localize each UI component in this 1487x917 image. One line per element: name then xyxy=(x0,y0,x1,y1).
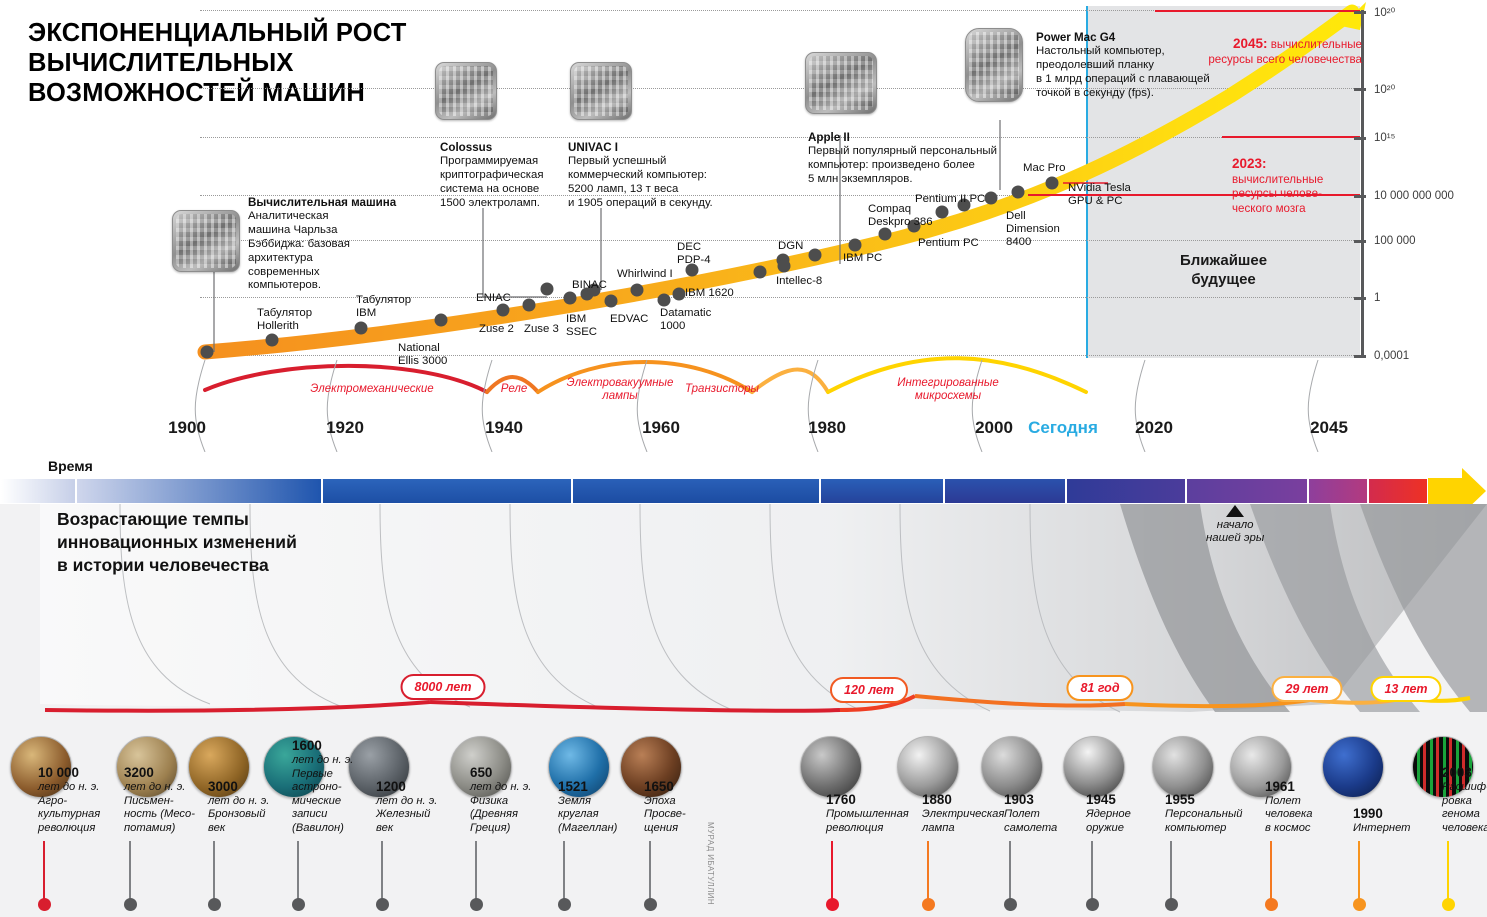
event-stem xyxy=(1270,841,1272,899)
axis-tick xyxy=(1354,355,1366,358)
event-dot xyxy=(208,898,221,911)
dot-label-binac: BINAC xyxy=(572,279,607,292)
event-stem xyxy=(213,841,215,899)
time-segment xyxy=(0,478,76,504)
event-dot xyxy=(1004,898,1017,911)
event-desc: Земля круглая (Магеллан) xyxy=(558,795,650,835)
axis-tick xyxy=(1354,88,1366,91)
year-tick-2000: 2000 xyxy=(975,418,1013,438)
event-desc: Расшиф- ровка генома человека xyxy=(1442,781,1487,835)
era-label-transistors: Транзисторы xyxy=(676,383,768,396)
event-desc: Интернет xyxy=(1353,822,1445,835)
dot-label-mac-pro: Mac Pro xyxy=(1023,162,1065,175)
event-stem xyxy=(1009,841,1011,899)
horizon-note-2023: 2023:вычислительные ресурсы челове- ческ… xyxy=(1232,142,1362,216)
event-desc: Промышленная революция xyxy=(826,808,928,835)
event-desc: Эпоха Просве- щения xyxy=(644,795,736,835)
year-tick-1980: 1980 xyxy=(808,418,846,438)
time-segment xyxy=(572,478,820,504)
callout-text: Настольный компьютер, преодолевший планк… xyxy=(1036,45,1246,101)
callout-apple-ii: Apple II Первый популярный персональный … xyxy=(808,131,1038,187)
timeline-event: 1880 Электрическая лампа xyxy=(922,647,1014,917)
callout-text: Аналитическая машина Чарльза Бэббиджа: б… xyxy=(248,210,423,293)
time-segment xyxy=(322,478,572,504)
y-axis-label: 10¹⁵ xyxy=(1374,132,1395,144)
event-desc: лет до н. э. Письмен- ность (Месо- потам… xyxy=(124,781,216,835)
event-dot xyxy=(558,898,571,911)
callout-title: Apple II xyxy=(808,131,1038,145)
event-year: 2003 xyxy=(1442,765,1487,780)
event-stem xyxy=(129,841,131,899)
thumb-colossus xyxy=(435,62,497,120)
event-year: 1990 xyxy=(1353,806,1445,821)
callout-text: Первый успешный коммерческий компьютер: … xyxy=(568,155,768,211)
dot-label-nvidia: NVidia Tesla GPU & PC xyxy=(1068,182,1131,208)
interval-badge-8000: 8000 лет xyxy=(401,674,486,700)
event-dot xyxy=(922,898,935,911)
event-stem xyxy=(831,841,833,899)
time-segment xyxy=(944,478,1066,504)
callout-colossus: Colossus Программируемая криптографическ… xyxy=(440,141,565,211)
dot-label-ibm-pc: IBM PC xyxy=(843,252,882,265)
time-gradient-bar xyxy=(0,478,1447,504)
era-label-vacuum-tubes: Электровакуумные лампы xyxy=(548,377,692,403)
dot-label-intellec8: Intellec-8 xyxy=(776,275,822,288)
timeline-event: 10 000 лет до н. э. Агро- культурная рев… xyxy=(38,647,130,917)
year-tick-1960: 1960 xyxy=(642,418,680,438)
axis-tick xyxy=(1354,297,1366,300)
event-dot xyxy=(1086,898,1099,911)
year-tick-1920: 1920 xyxy=(326,418,364,438)
time-segment xyxy=(1308,478,1368,504)
time-axis-caption: Время xyxy=(48,458,93,474)
dot-label-pentium: Pentium PC xyxy=(918,237,979,250)
event-stem xyxy=(297,841,299,899)
callout-title: Power Mac G4 xyxy=(1036,31,1246,45)
event-year: 650 xyxy=(470,765,562,780)
event-dot xyxy=(124,898,137,911)
dot-label-whirlwind: Whirlwind I xyxy=(617,268,673,281)
year-tick-1940: 1940 xyxy=(485,418,523,438)
thumb-analytical-engine xyxy=(172,210,240,272)
timeline-event: 3200 лет до н. э. Письмен- ность (Месо- … xyxy=(124,647,216,917)
axis-tick xyxy=(1354,240,1366,243)
event-dot xyxy=(1442,898,1455,911)
event-year: 1760 xyxy=(826,792,928,807)
year-tick-2020: 2020 xyxy=(1135,418,1173,438)
dot-label-datamatic: Datamatic 1000 xyxy=(660,307,711,333)
time-segment xyxy=(76,478,322,504)
timeline-event: 1650 Эпоха Просве- щения xyxy=(644,647,736,917)
event-year: 1600 xyxy=(292,738,384,753)
dot-label-eniac: ENIAC xyxy=(476,292,511,305)
event-dot xyxy=(644,898,657,911)
event-stem xyxy=(43,841,45,899)
event-year: 1955 xyxy=(1165,792,1269,807)
event-dot xyxy=(376,898,389,911)
event-stem xyxy=(1091,841,1093,899)
dot-label-zuse3: Zuse 3 xyxy=(524,323,559,336)
dot-label-ibm-ssec: IBM SSEC xyxy=(566,313,597,339)
dot-label-pentium2: Pentium II PC xyxy=(915,193,985,206)
event-stem xyxy=(381,841,383,899)
era-label-relays: Реле xyxy=(487,383,541,396)
era-label-electromechanical: Электромеханические xyxy=(277,383,467,396)
timeline-event: 1521 Земля круглая (Магеллан) xyxy=(558,647,650,917)
dot-label-compaq: Compaq Deskpro 386 xyxy=(868,203,933,229)
y-axis-label: 1 xyxy=(1374,292,1380,304)
callout-title: UNIVAC I xyxy=(568,141,768,155)
event-dot xyxy=(292,898,305,911)
timeline-event: 3000 лет до н. э. Бронзовый век xyxy=(208,647,300,917)
time-segment xyxy=(1186,478,1308,504)
event-desc: Полет самолета xyxy=(1004,808,1096,835)
event-stem xyxy=(927,841,929,899)
dot-label-ibm-tab: Табулятор IBM xyxy=(356,294,411,320)
year-tick-today: Сегодня xyxy=(1028,418,1098,438)
timeline-event: 1600 лет до н. э. Первые астроно- мическ… xyxy=(292,647,384,917)
interval-badge-81: 81 год xyxy=(1066,675,1133,701)
dot-label-national: National Ellis 3000 xyxy=(398,342,447,368)
y-axis-label: 10²⁰ xyxy=(1374,5,1395,19)
time-segment xyxy=(1066,478,1186,504)
axis-tick xyxy=(1354,11,1366,14)
dot-label-zuse2: Zuse 2 xyxy=(479,323,514,336)
event-desc: лет до н. э. Бронзовый век xyxy=(208,795,300,835)
common-era-caption: начало нашей эры xyxy=(1206,519,1264,546)
event-year: 1521 xyxy=(558,779,650,794)
event-year: 3000 xyxy=(208,779,300,794)
callout-analytical-engine: Вычислительная машина Аналитическая маши… xyxy=(248,196,423,293)
event-stem xyxy=(1358,841,1360,899)
event-dot xyxy=(38,898,51,911)
dot-label-dec-pdp4: DEC PDP-4 xyxy=(677,241,711,267)
event-desc: Персональный компьютер xyxy=(1165,808,1269,835)
dot-label-edvac: EDVAC xyxy=(610,313,648,326)
event-stem xyxy=(563,841,565,899)
dot-label-ibm1620: IBM 1620 xyxy=(685,287,734,300)
axis-tick xyxy=(1354,137,1366,140)
event-year: 1961 xyxy=(1265,779,1357,794)
infographic-root: ЭКСПОНЕНЦИАЛЬНЫЙ РОСТ ВЫЧИСЛИТЕЛЬНЫХ ВОЗ… xyxy=(0,0,1487,917)
event-desc: лет до н. э. Агро- культурная революция xyxy=(38,781,130,835)
event-stem xyxy=(475,841,477,899)
event-year: 1650 xyxy=(644,779,736,794)
timeline-event: 1955 Персональный компьютер xyxy=(1165,647,1265,917)
interval-badge-29: 29 лет xyxy=(1271,676,1342,702)
callout-title: Вычислительная машина xyxy=(248,196,423,210)
callout-text: Программируемая криптографическая систем… xyxy=(440,155,565,211)
computing-growth-chart: Ближайшее будущее xyxy=(0,0,1487,452)
horizon-year-2023: 2023: xyxy=(1232,156,1267,171)
dot-label-dell: Dell Dimension 8400 xyxy=(1006,210,1060,250)
thumb-univac xyxy=(570,62,632,120)
event-year: 10 000 xyxy=(38,765,130,780)
y-axis-label: 0,0001 xyxy=(1374,350,1409,362)
dot-label-dgn: DGN xyxy=(778,240,803,253)
event-stem xyxy=(649,841,651,899)
event-desc: лет до н. э. Физика (Древняя Греция) xyxy=(470,781,562,835)
callout-univac: UNIVAC I Первый успешный коммерческий ко… xyxy=(568,141,768,211)
event-dot xyxy=(1353,898,1366,911)
interval-badge-120: 120 лет xyxy=(830,677,908,703)
callout-title: Colossus xyxy=(440,141,565,155)
time-segment xyxy=(1368,478,1428,504)
event-desc: лет до н. э. Железный век xyxy=(376,795,468,835)
event-dot xyxy=(1165,898,1178,911)
y-axis-label: 10 000 000 000 xyxy=(1374,190,1454,202)
y-axis-label: 10²⁰ xyxy=(1374,82,1395,96)
thumb-apple-ii xyxy=(805,52,877,114)
callout-text: Первый популярный персональный компьютер… xyxy=(808,145,1038,187)
horizon-text-2023: вычислительные ресурсы челове- ческого м… xyxy=(1232,173,1323,215)
interval-badge-13: 13 лет xyxy=(1370,676,1441,702)
event-year: 3200 xyxy=(124,765,216,780)
callout-power-mac-g4: Power Mac G4 Настольный компьютер, преод… xyxy=(1036,31,1246,101)
era-label-integrated-circuits: Интегрированные микросхемы xyxy=(878,377,1018,403)
time-segment xyxy=(820,478,944,504)
dot-label-hollerith: Табулятор Hollerith xyxy=(257,307,312,333)
triangle-icon xyxy=(1226,505,1244,517)
event-year: 1200 xyxy=(376,779,468,794)
y-axis-label: 100 000 xyxy=(1374,235,1416,247)
event-dot xyxy=(826,898,839,911)
year-tick-1900: 1900 xyxy=(168,418,206,438)
event-desc: лет до н. э. Первые астроно- мические за… xyxy=(292,754,384,835)
event-dot xyxy=(470,898,483,911)
year-tick-2045: 2045 xyxy=(1310,418,1348,438)
event-year: 1903 xyxy=(1004,792,1096,807)
timeline-event: 2003 Расшиф- ровка генома человека xyxy=(1442,647,1487,917)
event-stem xyxy=(1447,841,1449,899)
event-stem xyxy=(1170,841,1172,899)
year-whiskers xyxy=(195,360,1318,452)
event-desc: Полет человека в космос xyxy=(1265,795,1357,835)
credit-text: МУРАД ИБАТУЛЛИН xyxy=(706,822,715,905)
common-era-marker: начало нашей эры xyxy=(1206,505,1264,546)
timeline-title: Возрастающие темпы инновационных изменен… xyxy=(57,508,297,576)
thumb-power-mac-g4 xyxy=(965,28,1023,102)
event-dot xyxy=(1265,898,1278,911)
